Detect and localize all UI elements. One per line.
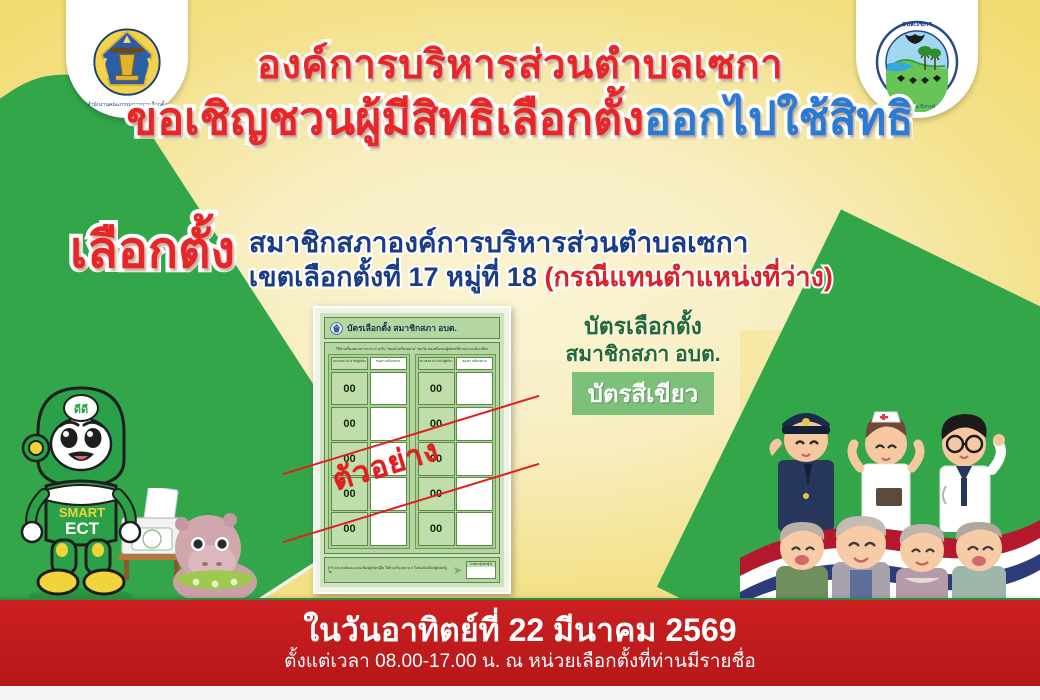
banner-bottom-strip — [0, 686, 1040, 700]
ballot-columns: หมายเลข ประจำตัวผู้สมัคร ช่องทำ เครื่องห… — [328, 354, 496, 549]
ballot-row: 00 — [418, 407, 494, 441]
mascot-chest-label-bottom: ECT — [65, 519, 100, 538]
date-banner: ในวันอาทิตย์ที่ 22 มีนาคม 2569 ตั้งแต่เว… — [0, 600, 1040, 686]
mascot-head-label: ดีดี — [74, 403, 88, 416]
ballot-column-left: หมายเลข ประจำตัวผู้สมัคร ช่องทำ เครื่องห… — [328, 354, 410, 549]
ballot-row: 00 — [331, 372, 407, 406]
council-line: สมาชิกสภาองค์การบริหารส่วนตำบลเซกา — [249, 226, 833, 259]
ballot-row: 00 — [331, 407, 407, 441]
mark-box[interactable] — [456, 372, 493, 406]
district-text: เขตเลือกตั้งที่ 17 หมู่ที่ 18 — [249, 262, 545, 292]
subheadline-lines: สมาชิกสภาองค์การบริหารส่วนตำบลเซกา เขตเล… — [249, 226, 833, 293]
ballot-seal-icon — [330, 322, 343, 335]
ballot-row: 00 — [418, 442, 494, 476]
mark-box[interactable] — [370, 407, 407, 441]
election-time: ตั้งแต่เวลา 08.00-17.00 น. ณ หน่วยเลือกต… — [284, 650, 756, 674]
invite-line: ขอเชิญชวนผู้มีสิทธิเลือกตั้งออกไปใช้สิทธ… — [0, 95, 1040, 142]
district-line: เขตเลือกตั้งที่ 17 หมู่ที่ 18 (กรณีแทนตำ… — [249, 261, 833, 293]
header-mark: ช่องทำ เครื่องหมาย — [456, 357, 493, 370]
candidate-number: 00 — [331, 442, 368, 476]
mark-box[interactable] — [370, 512, 407, 546]
mark-box[interactable] — [456, 442, 493, 476]
ballot-row: 00 — [418, 512, 494, 546]
ballot-title: บัตรเลือกตั้ง สมาชิกสภา อบต. — [347, 321, 457, 335]
ballot-column-right: หมายเลข ประจำตัวผู้สมัคร ช่องทำ เครื่องห… — [415, 354, 497, 549]
mascot-chest-label-top: SMART — [59, 505, 105, 520]
ballot-row: 00 — [331, 477, 407, 511]
header-number: หมายเลข ประจำตัวผู้สมัคร — [331, 357, 368, 370]
ballot-legend: บัตรเลือกตั้ง สมาชิกสภา อบต. บัตรสีเขียว — [528, 312, 758, 415]
ballot-row: 00 — [418, 477, 494, 511]
invite-text-blue: ออกไปใช้สิทธิ — [644, 93, 914, 144]
legend-line-1: บัตรเลือกตั้ง — [528, 312, 758, 341]
candidate-number: 00 — [331, 512, 368, 546]
ballot-body: ให้ทำเครื่องหมายกากบาท X ลงใน "ช่องทำเคร… — [324, 342, 500, 554]
ballot-column-header: หมายเลข ประจำตัวผู้สมัคร ช่องทำ เครื่องห… — [418, 357, 494, 370]
candidate-number: 00 — [418, 407, 455, 441]
mark-box[interactable] — [370, 372, 407, 406]
ballot-row: 00 — [331, 512, 407, 546]
mark-box[interactable] — [370, 442, 407, 476]
no-vote-box[interactable]: ไม่เลือก ผู้สมัครผู้ใด — [466, 561, 496, 579]
ballot-card: บัตรเลือกตั้ง สมาชิกสภา อบต. ให้ทำเครื่อ… — [313, 306, 511, 594]
vote-word: เลือกตั้ง — [70, 224, 235, 276]
candidate-number: 00 — [418, 372, 455, 406]
ballot-header: บัตรเลือกตั้ง สมาชิกสภา อบต. — [324, 317, 500, 339]
candidate-number: 00 — [331, 477, 368, 511]
headline-block: องค์การบริหารส่วนตำบลเซกา ขอเชิญชวนผู้มี… — [0, 44, 1040, 142]
candidate-number: 00 — [418, 512, 455, 546]
candidate-number: 00 — [418, 477, 455, 511]
org-title: องค์การบริหารส่วนตำบลเซกา — [0, 44, 1040, 87]
arrow-right-icon: ➤ — [453, 561, 463, 579]
mark-box[interactable] — [456, 477, 493, 511]
subheadline-row: เลือกตั้ง สมาชิกสภาองค์การบริหารส่วนตำบล… — [70, 216, 833, 293]
vacancy-note: (กรณีแทนตำแหน่งที่ว่าง) — [544, 262, 832, 292]
ballot-row: 00 — [418, 372, 494, 406]
header-mark: ช่องทำ เครื่องหมาย — [370, 357, 407, 370]
candidate-number: 00 — [418, 442, 455, 476]
legend-line-2: สมาชิกสภา อบต. — [528, 341, 758, 368]
mark-box[interactable] — [456, 512, 493, 546]
no-vote-mark-area[interactable] — [467, 567, 495, 578]
ballot-column-header: หมายเลข ประจำตัวผู้สมัคร ช่องทำ เครื่องห… — [331, 357, 407, 370]
legend-green-card: บัตรสีเขียว — [572, 372, 715, 415]
invite-text-red: ขอเชิญชวนผู้มีสิทธิเลือกตั้ง — [126, 93, 644, 144]
ballot-row: 00 — [331, 442, 407, 476]
mark-box[interactable] — [456, 407, 493, 441]
candidate-number: 00 — [331, 372, 368, 406]
election-poster: สำนักงานคณะกรรมการการเลือกตั้ง อบต. — [0, 0, 1040, 700]
ballot-sample: บัตรเลือกตั้ง สมาชิกสภา อบต. ให้ทำเครื่อ… — [313, 306, 511, 594]
candidate-number: 00 — [331, 407, 368, 441]
ballot-footer: ถ้าไม่ประสงค์ลงคะแนนเลือกผู้สมัครผู้ใด ใ… — [324, 557, 500, 583]
smart-ect-robot-mascot: ดีดี SMART ECT — [16, 374, 146, 604]
sao-emblem-caption: อบต.เซกา — [902, 21, 933, 28]
no-vote-instruction: ถ้าไม่ประสงค์ลงคะแนนเลือกผู้สมัครผู้ใด ใ… — [328, 561, 450, 579]
ballot-instruction: ให้ทำเครื่องหมายกากบาท X ลงใน "ช่องทำเคร… — [328, 347, 496, 351]
election-date: ในวันอาทิตย์ที่ 22 มีนาคม 2569 — [303, 613, 736, 649]
ballot-inner: บัตรเลือกตั้ง สมาชิกสภา อบต. ให้ทำเครื่อ… — [320, 313, 504, 587]
mark-box[interactable] — [370, 477, 407, 511]
header-number: หมายเลข ประจำตัวผู้สมัคร — [418, 357, 455, 370]
